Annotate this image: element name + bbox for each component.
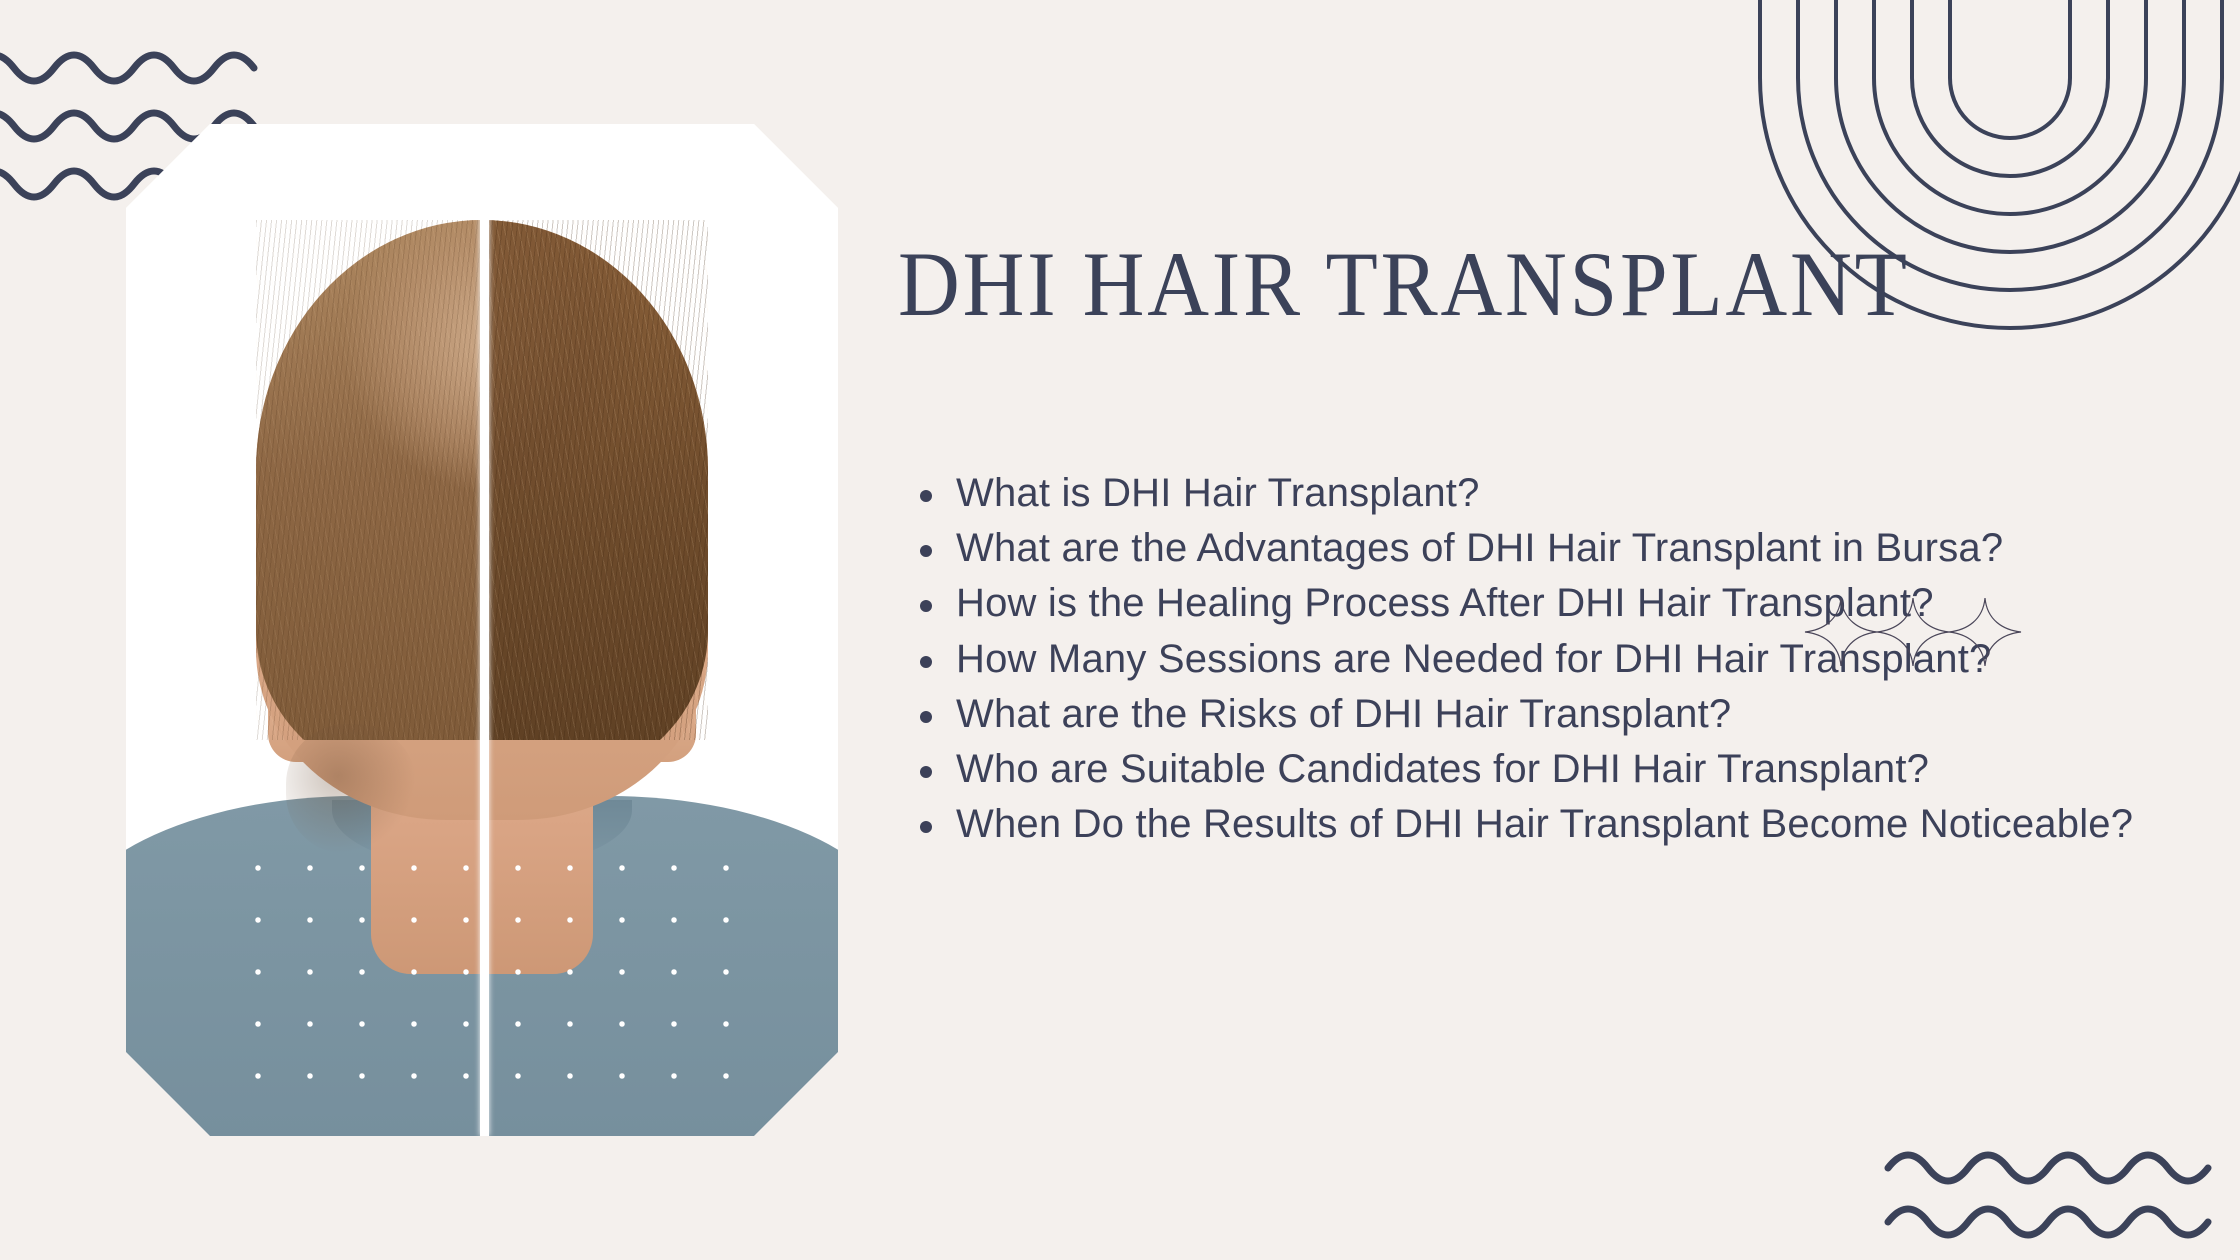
before-after-divider (480, 124, 489, 1136)
stubble-region (286, 724, 416, 854)
slide-canvas: DHI HAIR TRANSPLANT What is DHI Hair Tra… (0, 0, 2240, 1260)
faq-list: What is DHI Hair Transplant? What are th… (908, 468, 2158, 854)
page-title: DHI HAIR TRANSPLANT (898, 238, 2098, 330)
before-after-photo-card (126, 124, 838, 1136)
list-item[interactable]: When Do the Results of DHI Hair Transpla… (908, 799, 2158, 850)
content-column: DHI HAIR TRANSPLANT What is DHI Hair Tra… (898, 238, 2188, 330)
list-item[interactable]: How Many Sessions are Needed for DHI Hai… (908, 634, 2158, 685)
wavy-lines-icon (1880, 1136, 2240, 1246)
list-item[interactable]: What are the Risks of DHI Hair Transplan… (908, 689, 2158, 740)
list-item[interactable]: What is DHI Hair Transplant? (908, 468, 2158, 519)
list-item[interactable]: Who are Suitable Candidates for DHI Hair… (908, 744, 2158, 795)
photo-image (126, 124, 838, 1136)
list-item[interactable]: How is the Healing Process After DHI Hai… (908, 578, 2158, 629)
hair-before-region (256, 220, 482, 740)
list-item[interactable]: What are the Advantages of DHI Hair Tran… (908, 523, 2158, 574)
hair-after-region (482, 220, 708, 740)
